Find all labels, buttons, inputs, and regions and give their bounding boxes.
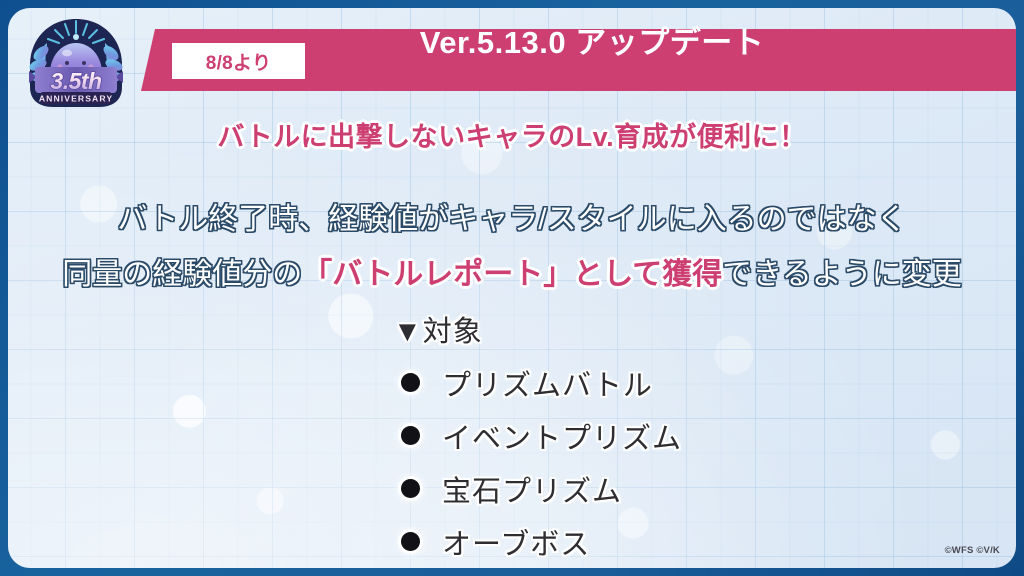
list-item-label: プリズムバトル xyxy=(442,362,653,404)
body-line-2-highlight: 「バトルレポート」として獲得 xyxy=(302,258,722,291)
anniversary-logo-icon: 3.5th ANNIVERSARY xyxy=(17,15,135,111)
page-title: Ver.5.13.0 アップデート xyxy=(198,8,986,70)
bullet-dot-icon xyxy=(401,426,420,445)
body-line-1: バトル終了時、経験値がキャラ/スタイルに入るのではなく xyxy=(8,194,1016,238)
list-item-label: オーブボス xyxy=(442,521,590,563)
target-list: ▼対象 プリズムバトル イベントプリズム 宝石プリズム オーブボス xyxy=(393,308,682,568)
list-item: プリズムバトル xyxy=(401,356,682,409)
svg-text:ANNIVERSARY: ANNIVERSARY xyxy=(39,94,113,104)
subtitle-headline: バトルに出撃しないキャラのLv.育成が便利に！ xyxy=(8,115,1016,154)
list-item-label: 宝石プリズム xyxy=(442,468,622,510)
list-item: イベントプリズム xyxy=(401,409,682,462)
slide-frame: Ver.5.13.0 アップデート 8/8より xyxy=(0,0,1024,576)
svg-text:3.5th: 3.5th xyxy=(50,68,102,94)
body-line-2-suffix: できるように変更 xyxy=(722,258,961,291)
date-chip: 8/8より xyxy=(172,43,305,79)
bullet-dot-icon xyxy=(401,373,420,392)
target-list-heading: ▼対象 xyxy=(393,308,682,350)
bullet-dot-icon xyxy=(401,479,420,498)
list-item-label: イベントプリズム xyxy=(442,415,682,457)
copyright-notice: ©WFS ©V/K xyxy=(945,545,1000,556)
body-line-2-prefix: 同量の経験値分の xyxy=(62,258,302,291)
bullet-dot-icon xyxy=(401,532,420,551)
list-item: オーブボス xyxy=(401,515,682,568)
slide-board: Ver.5.13.0 アップデート 8/8より xyxy=(8,8,1016,568)
list-item: 宝石プリズム xyxy=(401,462,682,515)
body-line-2: 同量の経験値分の「バトルレポート」として獲得できるように変更 xyxy=(8,249,1016,293)
